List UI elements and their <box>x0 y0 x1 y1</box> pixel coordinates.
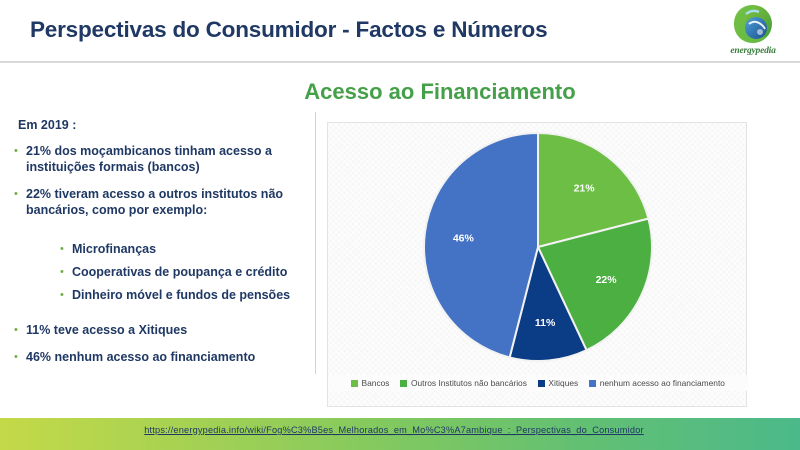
legend-label: nenhum acesso ao financiamento <box>600 378 725 388</box>
chart-legend: Bancos Outros Institutos não bancários X… <box>328 375 748 391</box>
lead-line: Em 2019 : <box>18 118 314 132</box>
legend-swatch-bancos <box>351 380 358 387</box>
pie-slice-label: 21% <box>574 183 596 195</box>
legend-swatch-outros-institutos <box>400 380 407 387</box>
bullet-text: Dinheiro móvel e fundos de pensões <box>72 287 290 303</box>
slide-header: Perspectivas do Consumidor - Factos e Nú… <box>0 0 800 63</box>
pie-slice-label: 11% <box>535 317 556 329</box>
legend-label: Bancos <box>362 378 390 388</box>
source-url-link[interactable]: https://energypedia.info/wiki/Fog%C3%B5e… <box>0 425 800 435</box>
list-item: • 22% tiveram acesso a outros institutos… <box>14 186 314 218</box>
bullet-text: 11% teve acesso a Xitiques <box>26 322 187 338</box>
bullet-dot-icon: • <box>60 264 72 280</box>
spacer <box>14 229 314 241</box>
pie-slice-label: 46% <box>453 233 475 245</box>
legend-item[interactable]: Xitiques <box>538 378 578 388</box>
chart-section-title: Acesso ao Financiamento <box>160 79 720 105</box>
legend-label: Outros Institutos não bancários <box>411 378 527 388</box>
legend-item[interactable]: nenhum acesso ao financiamento <box>589 378 725 388</box>
bullet-dot-icon: • <box>60 241 72 257</box>
list-item: • Microfinanças <box>60 241 314 257</box>
legend-item[interactable]: Bancos <box>351 378 389 388</box>
bullet-text: Cooperativas de poupança e crédito <box>72 264 287 280</box>
list-item: • Dinheiro móvel e fundos de pensões <box>60 287 314 303</box>
facts-text-column: Em 2019 : • 21% dos moçambicanos tinham … <box>14 118 314 376</box>
bullet-text: 46% nenhum acesso ao financiamento <box>26 349 255 365</box>
bullet-dot-icon: • <box>14 322 26 338</box>
energypedia-logo: energypedia <box>720 2 786 60</box>
footer-bar: https://energypedia.info/wiki/Fog%C3%B5e… <box>0 418 800 450</box>
pie-plot-area: 21%22%11%46% <box>328 123 748 371</box>
bullet-dot-icon: • <box>14 186 26 202</box>
bullet-dot-icon: • <box>60 287 72 303</box>
spacer <box>14 310 314 322</box>
pie-chart-panel: 21%22%11%46% Bancos Outros Institutos nã… <box>327 122 747 407</box>
list-item: • 21% dos moçambicanos tinham acesso a i… <box>14 143 314 175</box>
logo-wordmark: energypedia <box>720 46 786 56</box>
pie-slice-label: 22% <box>596 274 618 286</box>
bullet-text: 22% tiveram acesso a outros institutos n… <box>26 186 314 218</box>
legend-label: Xitiques <box>548 378 578 388</box>
bullet-dot-icon: • <box>14 349 26 365</box>
legend-swatch-xitiques <box>538 380 545 387</box>
bullet-dot-icon: • <box>14 143 26 159</box>
bullet-text: Microfinanças <box>72 241 156 257</box>
list-item: • 11% teve acesso a Xitiques <box>14 322 314 338</box>
vertical-divider <box>315 112 316 374</box>
energypedia-globe-icon <box>729 2 777 47</box>
legend-swatch-nenhum-acesso <box>589 380 596 387</box>
bullet-text: 21% dos moçambicanos tinham acesso a ins… <box>26 143 314 175</box>
legend-item[interactable]: Outros Institutos não bancários <box>400 378 526 388</box>
list-item: • Cooperativas de poupança e crédito <box>60 264 314 280</box>
page-title: Perspectivas do Consumidor - Factos e Nú… <box>30 17 547 43</box>
list-item: • 46% nenhum acesso ao financiamento <box>14 349 314 365</box>
pie-chart[interactable]: 21%22%11%46% <box>414 131 662 371</box>
